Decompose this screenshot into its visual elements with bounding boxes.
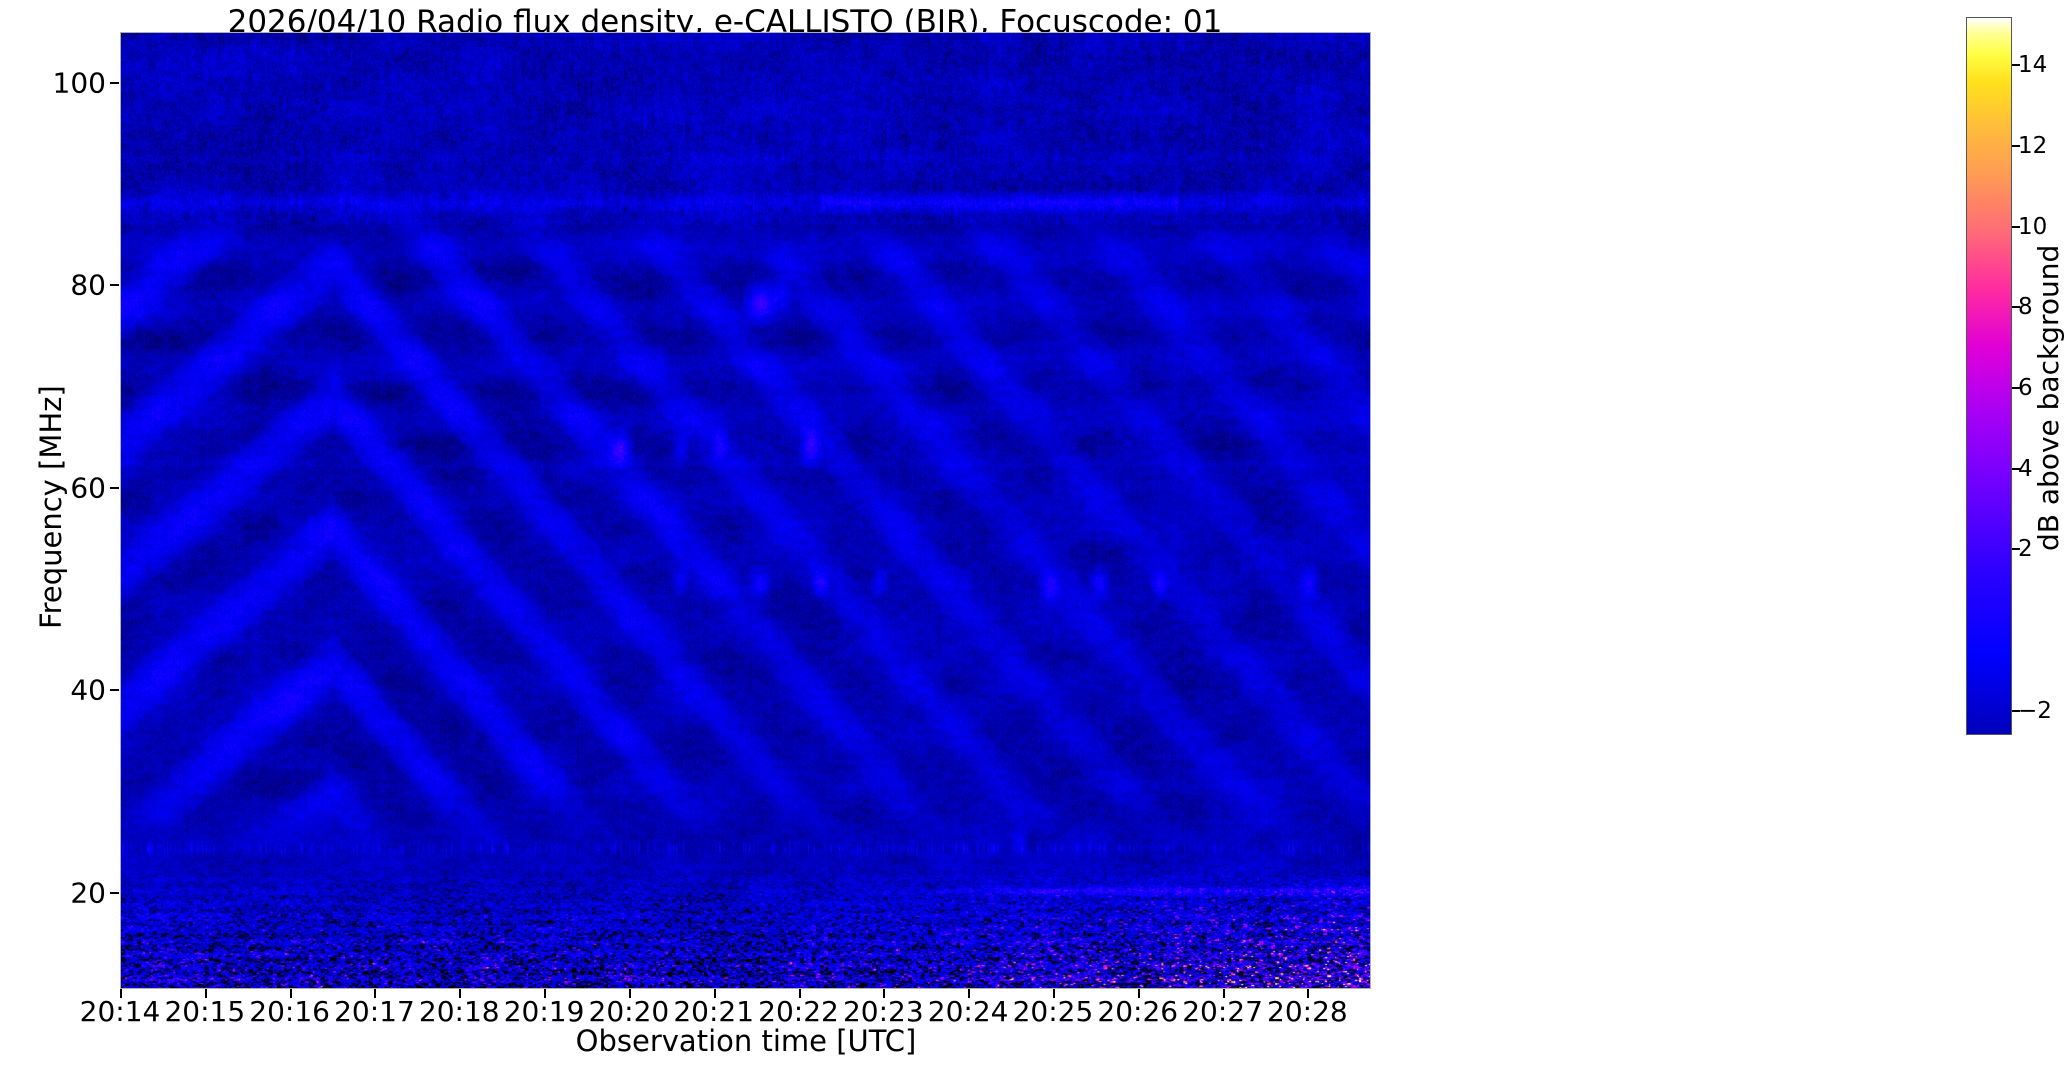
y-tick-label: 100 <box>53 66 106 99</box>
x-tick-mark <box>968 989 970 998</box>
spectrogram-plot-area[interactable] <box>120 32 1371 989</box>
x-tick-mark <box>374 989 376 998</box>
colorbar-tick-label: 4 <box>2018 456 2033 482</box>
colorbar-tick-mark <box>2012 64 2020 66</box>
x-tick-label: 20:24 <box>928 995 1009 1028</box>
x-tick-mark <box>459 989 461 998</box>
x-tick-mark <box>544 989 546 998</box>
colorbar-tick-label: 14 <box>2018 52 2047 78</box>
colorbar-tick-label: 2 <box>2018 536 2033 562</box>
x-axis-label: Observation time [UTC] <box>576 1024 917 1058</box>
x-tick-mark <box>120 989 122 998</box>
colorbar-tick-mark <box>2012 710 2020 712</box>
x-tick-mark <box>799 989 801 998</box>
x-tick-mark <box>714 989 716 998</box>
y-tick-mark <box>110 284 119 286</box>
y-tick-label: 20 <box>70 876 106 909</box>
colorbar[interactable] <box>1966 17 2012 735</box>
x-tick-mark <box>1307 989 1309 998</box>
y-tick-label: 60 <box>70 471 106 504</box>
x-tick-mark <box>290 989 292 998</box>
colorbar-tick-mark <box>2012 306 2020 308</box>
colorbar-tick-mark <box>2012 548 2020 550</box>
y-tick-mark <box>110 689 119 691</box>
y-tick-label: 80 <box>70 269 106 302</box>
figure-root: 2026/04/10 Radio flux density, e-CALLIST… <box>0 0 2066 1067</box>
y-axis-label: Frequency [MHz] <box>34 385 68 629</box>
x-tick-label: 20:14 <box>80 995 161 1028</box>
colorbar-tick-label: −2 <box>2018 698 2052 724</box>
colorbar-tick-label: 6 <box>2018 375 2033 401</box>
x-tick-mark <box>883 989 885 998</box>
x-tick-label: 20:28 <box>1267 995 1348 1028</box>
colorbar-tick-label: 10 <box>2018 214 2047 240</box>
spectrogram-image <box>121 33 1370 988</box>
x-tick-mark <box>205 989 207 998</box>
x-tick-label: 20:25 <box>1013 995 1094 1028</box>
colorbar-tick-mark <box>2012 468 2020 470</box>
colorbar-tick-mark <box>2012 226 2020 228</box>
x-tick-mark <box>629 989 631 998</box>
x-tick-label: 20:15 <box>164 995 245 1028</box>
y-tick-mark <box>110 892 119 894</box>
x-tick-label: 20:18 <box>419 995 500 1028</box>
colorbar-tick-label: 12 <box>2018 133 2047 159</box>
colorbar-tick-label: 8 <box>2018 294 2033 320</box>
x-tick-mark <box>1053 989 1055 998</box>
x-tick-mark <box>1223 989 1225 998</box>
x-tick-label: 20:19 <box>504 995 585 1028</box>
y-tick-label: 40 <box>70 674 106 707</box>
colorbar-tick-mark <box>2012 145 2020 147</box>
x-tick-label: 20:17 <box>334 995 415 1028</box>
y-tick-mark <box>110 82 119 84</box>
x-tick-label: 20:27 <box>1182 995 1263 1028</box>
x-tick-mark <box>1138 989 1140 998</box>
x-tick-label: 20:26 <box>1097 995 1178 1028</box>
colorbar-tick-mark <box>2012 387 2020 389</box>
x-tick-label: 20:16 <box>249 995 330 1028</box>
colorbar-label: dB above background <box>2032 245 2065 551</box>
y-tick-mark <box>110 487 119 489</box>
